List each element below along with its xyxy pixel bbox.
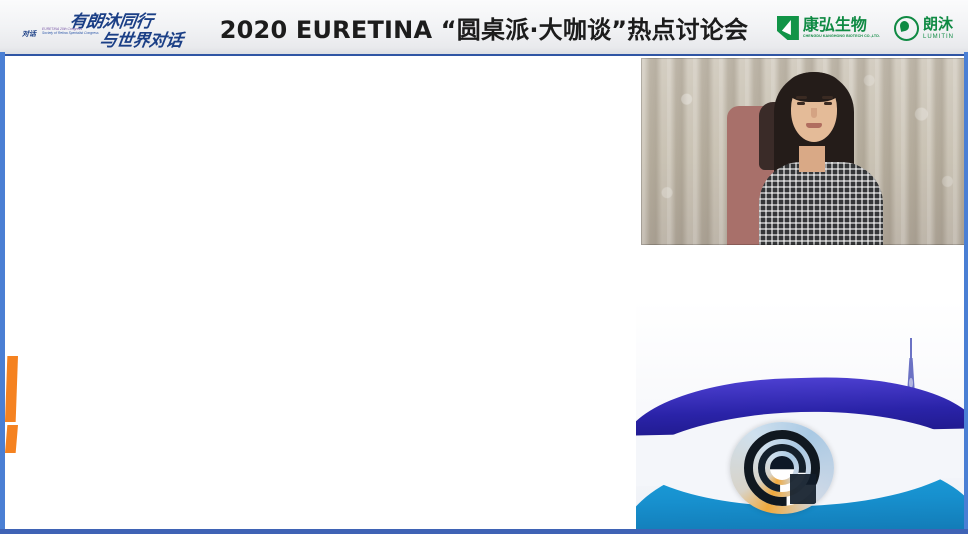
frame-border-right <box>964 52 968 534</box>
eye-logo-graphic <box>636 300 968 529</box>
lumitin-name-cn: 朗沐 <box>923 17 954 32</box>
eye-iris-icon <box>730 422 834 514</box>
frame-border-left <box>0 52 5 534</box>
sponsor-logo-lumitin: 朗沐 LUMITIN <box>894 16 954 41</box>
header-divider <box>0 54 968 56</box>
speaker-video-tile[interactable] <box>641 58 967 245</box>
kanghong-name-en: CHENGDU KANGHONG BIOTECH CO.,LTD. <box>803 35 880 39</box>
video-person-neck <box>799 146 825 172</box>
kanghong-name-cn: 康弘生物 <box>803 17 880 33</box>
sponsor-logo-kanghong: 康弘生物 CHENGDU KANGHONG BIOTECH CO.,LTD. <box>777 16 880 40</box>
screen: 有朗沐同行 与世界对话 对话 EURETINA 20th Congress So… <box>0 0 968 534</box>
slide-panel <box>5 56 636 529</box>
video-person-torso <box>759 162 883 245</box>
frame-border-bottom <box>0 529 968 534</box>
lumitin-name-en: LUMITIN <box>923 34 954 40</box>
page-header: 有朗沐同行 与世界对话 对话 EURETINA 20th Congress So… <box>0 0 968 55</box>
kanghong-mark-icon <box>777 16 799 40</box>
sponsor-logos: 康弘生物 CHENGDU KANGHONG BIOTECH CO.,LTD. 朗… <box>777 10 954 46</box>
lumitin-mark-icon <box>894 16 919 41</box>
